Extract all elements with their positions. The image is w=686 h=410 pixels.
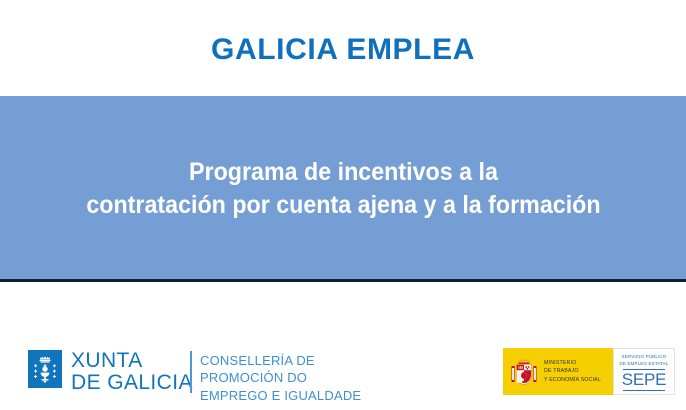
xunta-wordmark-line-1: XUNTA xyxy=(71,350,193,372)
xunta-wordmark-line-2: DE GALICIA xyxy=(71,372,193,394)
page-title: GALICIA EMPLEA xyxy=(211,31,475,65)
program-banner-line-2: contratación por cuenta ajena y a la for… xyxy=(86,189,600,222)
ministerio-trabajo-logo: MINISTERIO DE TRABAJO Y ECONOMÍA SOCIAL xyxy=(503,348,613,395)
conselleria-line-1: CONSELLERÍA DE xyxy=(200,352,361,369)
conselleria-text: CONSELLERÍA DE PROMOCIÓN DO EMPREGO E IG… xyxy=(200,352,361,404)
ministerio-line-1: MINISTERIO xyxy=(544,359,601,367)
conselleria-line-2: PROMOCIÓN DO xyxy=(200,369,361,386)
sepe-subtitle-line-1: SERVICIO PÚBLICO xyxy=(619,354,668,361)
sepe-acronym: SEPE xyxy=(622,371,667,388)
program-banner: Programa de incentivos a la contratación… xyxy=(0,96,686,279)
conselleria-line-3: EMPREGO E IGUALDADE xyxy=(200,387,361,404)
sepe-subtitle-line-2: DE EMPLEO ESTATAL xyxy=(619,361,668,368)
galicia-coat-of-arms-icon xyxy=(28,350,62,388)
xunta-wordmark: XUNTA DE GALICIA xyxy=(71,350,193,393)
ministerio-line-2: DE TRABAJO xyxy=(544,367,601,375)
logo-divider xyxy=(190,351,192,393)
spain-coat-of-arms-icon xyxy=(509,355,539,389)
sepe-logo: SERVICIO PÚBLICO DE EMPLEO ESTATAL SEPE xyxy=(613,348,675,395)
xunta-de-galicia-logo: XUNTA DE GALICIA xyxy=(28,350,193,393)
ministerio-sepe-logo: MINISTERIO DE TRABAJO Y ECONOMÍA SOCIAL … xyxy=(503,348,675,395)
program-banner-text: Programa de incentivos a la contratación… xyxy=(86,156,600,222)
sepe-subtitle: SERVICIO PÚBLICO DE EMPLEO ESTATAL xyxy=(619,354,668,367)
program-banner-line-1: Programa de incentivos a la xyxy=(86,156,600,189)
ministerio-line-3: Y ECONOMÍA SOCIAL xyxy=(544,376,601,384)
ministerio-text: MINISTERIO DE TRABAJO Y ECONOMÍA SOCIAL xyxy=(544,359,601,384)
page-header: GALICIA EMPLEA xyxy=(0,0,686,96)
sepe-rule-bottom xyxy=(623,390,665,391)
